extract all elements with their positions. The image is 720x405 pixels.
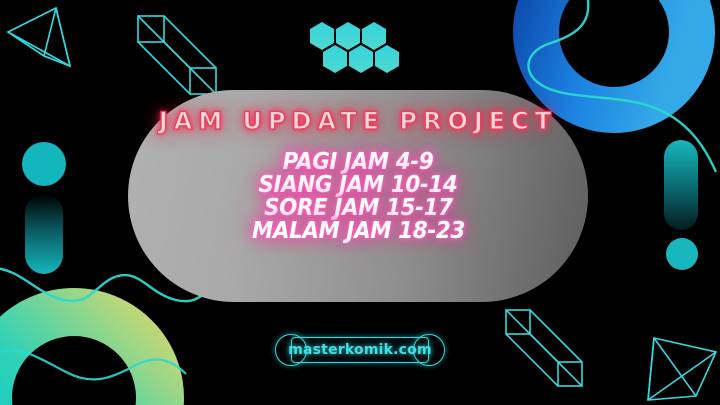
wireframe-box-top-left	[138, 16, 216, 94]
schedule-list: PAGI JAM 4-9 SIANG JAM 10-14 SORE JAM 15…	[244, 151, 473, 243]
wireframe-diamond-bottom-right	[648, 338, 716, 400]
letter-i-bar	[25, 194, 63, 274]
poster-canvas: JAM UPDATE PROJECT PAGI JAM 4-9 SIANG JA…	[0, 0, 720, 405]
schedule-line: SORE JAM 15-17	[264, 197, 453, 220]
page-title: JAM UPDATE PROJECT	[159, 107, 557, 135]
exclamation-bar	[664, 140, 698, 230]
website-badge[interactable]: masterkomik.com	[269, 331, 451, 369]
wireframe-diamond-top-left	[8, 8, 70, 66]
wireframe-box-bottom-right	[506, 310, 582, 386]
schedule-line: SIANG JAM 10-14	[259, 174, 458, 197]
schedule-line: PAGI JAM 4-9	[283, 151, 434, 174]
website-url: masterkomik.com	[269, 331, 451, 369]
letter-i-dot	[22, 142, 66, 186]
teal-ring-bottom-left	[0, 312, 160, 405]
schedule-line: MALAM JAM 18-23	[252, 220, 465, 243]
wave-line-bottom-left-2	[0, 351, 186, 380]
hexagon-cluster-top	[310, 22, 399, 73]
poster-text-stack: JAM UPDATE PROJECT PAGI JAM 4-9 SIANG JA…	[128, 90, 588, 302]
exclamation-dot	[666, 238, 698, 270]
exclamation-mark-right	[663, 140, 703, 275]
letter-i-mark-left	[22, 142, 66, 272]
